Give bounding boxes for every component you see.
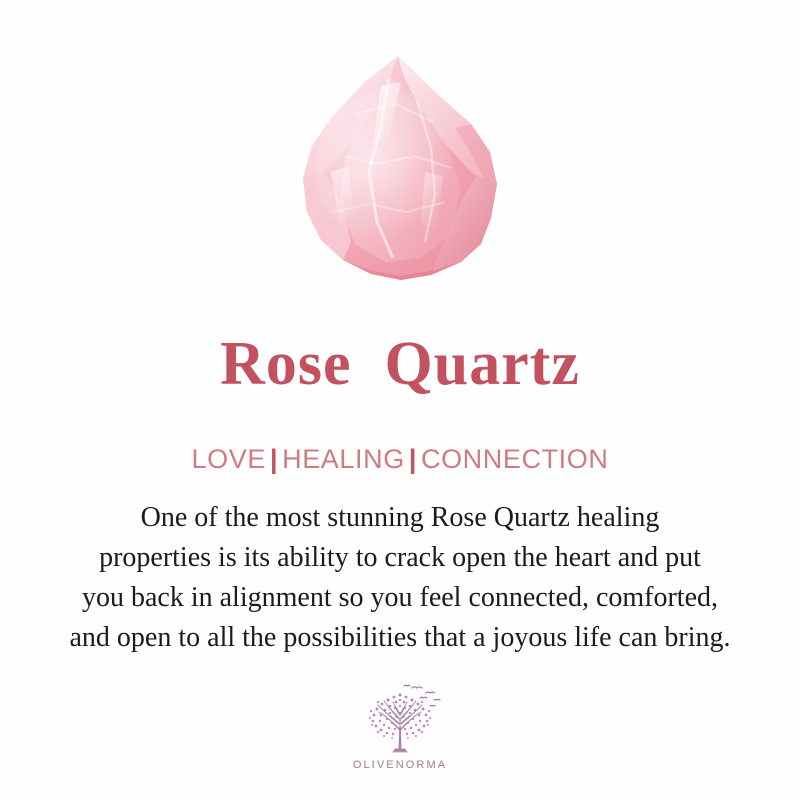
keyword-healing: HEALING bbox=[282, 444, 405, 474]
description-text: One of the most stunning Rose Quartz hea… bbox=[20, 498, 780, 658]
tree-of-life-icon bbox=[352, 682, 448, 758]
description-line: properties is its ability to crack open … bbox=[20, 538, 780, 578]
rose-quartz-crystal-icon bbox=[285, 52, 515, 287]
rose-quartz-info-card: Rose Quartz LOVE|HEALING|CONNECTION One … bbox=[0, 0, 800, 800]
description-line: you back in alignment so you feel connec… bbox=[20, 578, 780, 618]
description-line: One of the most stunning Rose Quartz hea… bbox=[20, 498, 780, 538]
keyword-connection: CONNECTION bbox=[421, 444, 609, 474]
description-line: and open to all the possibilities that a… bbox=[20, 618, 780, 658]
brand-wordmark: OLIVENORMA bbox=[353, 759, 447, 771]
keyword-love: LOVE bbox=[192, 444, 266, 474]
page-title: Rose Quartz bbox=[0, 332, 800, 397]
brand-logo: OLIVENORMA bbox=[335, 682, 465, 771]
crystal-image-container bbox=[0, 0, 800, 300]
keyword-line: LOVE|HEALING|CONNECTION bbox=[0, 445, 800, 475]
keyword-separator-2: | bbox=[405, 444, 421, 474]
keyword-separator-1: | bbox=[266, 444, 282, 474]
